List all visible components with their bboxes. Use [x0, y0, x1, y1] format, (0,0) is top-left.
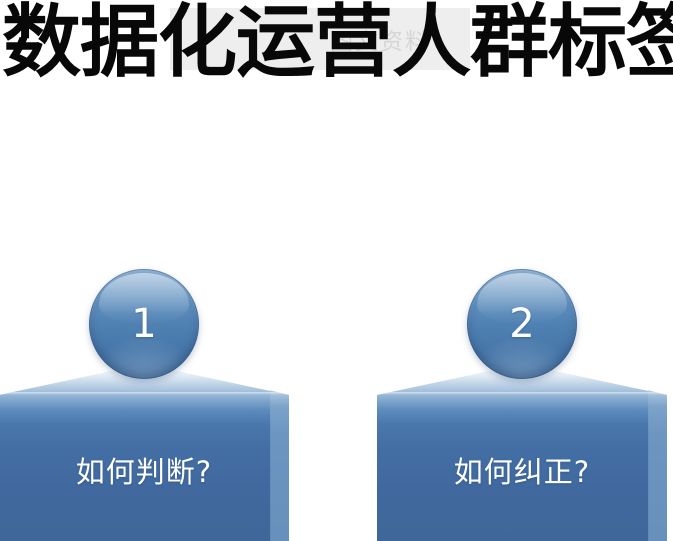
step-caption-2: 如何纠正? — [377, 455, 667, 489]
step-caption-1: 如何判断? — [0, 455, 289, 489]
step-group-1[interactable]: 1 如何判断? — [0, 0, 289, 541]
step-pedestal-1 — [0, 364, 289, 541]
step-sphere-1[interactable]: 1 — [89, 269, 199, 379]
step-number-1: 1 — [89, 269, 199, 379]
slide-canvas: 图文资料 数据化运营人群标签 1 如何判断? 2 如何纠正? — [0, 0, 673, 541]
step-group-2[interactable]: 2 如何纠正? — [377, 0, 667, 541]
step-number-2: 2 — [467, 269, 577, 379]
step-sphere-2[interactable]: 2 — [467, 269, 577, 379]
step-pedestal-2 — [377, 364, 667, 541]
